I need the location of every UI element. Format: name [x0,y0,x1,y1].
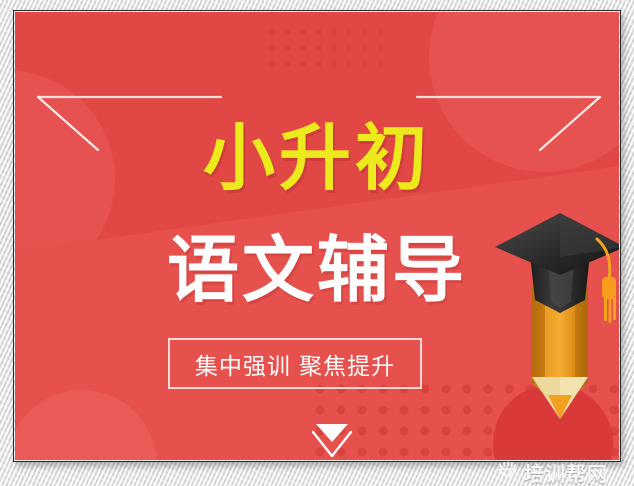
pencil-graduation-cap-icon [485,205,619,430]
poster-body: 小升初 语文辅导 集中强训 聚焦提升 [15,12,619,460]
subtitle-text: 集中强训 聚焦提升 [195,347,395,381]
watermark-text: 培训帮网 [524,458,608,486]
watermark: 培训帮网 [497,458,608,486]
subtitle-box: 集中强训 聚焦提升 [168,338,422,389]
scroll-down-chevron-icon[interactable] [302,416,362,460]
decor-dot-grid-top [268,28,394,76]
poster-canvas: 小升初 语文辅导 集中强训 聚焦提升 [0,0,634,486]
poster-frame: 小升初 语文辅导 集中强训 聚焦提升 [13,10,621,462]
sun-face-icon [497,460,518,485]
page-title-primary: 小升初 [15,122,619,194]
